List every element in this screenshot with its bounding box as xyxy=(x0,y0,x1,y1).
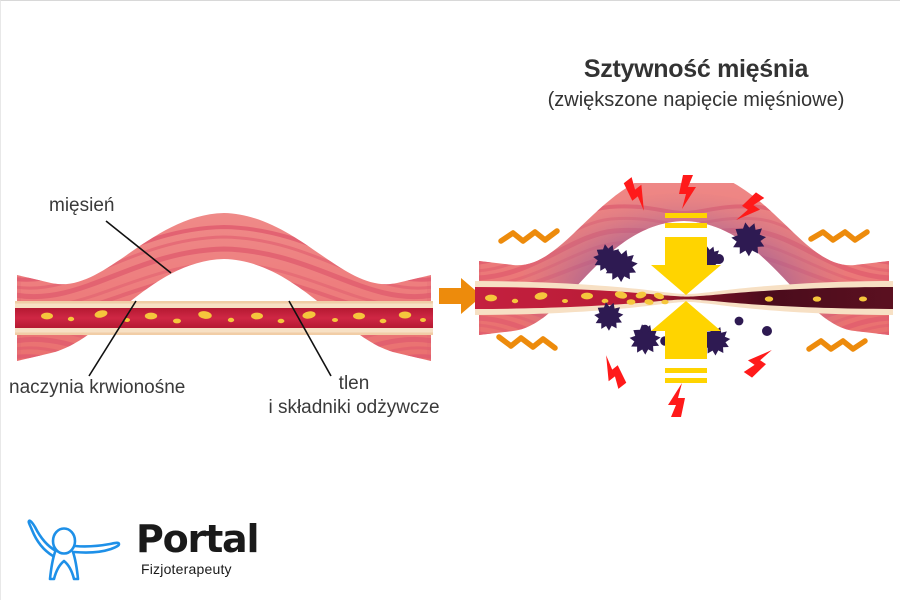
label-muscle: mięsień xyxy=(49,194,114,218)
infographic-canvas: Sztywność mięśnia (zwiększone napięcie m… xyxy=(1,1,900,600)
physio-figure-icon xyxy=(19,511,131,583)
title-block: Sztywność mięśnia (zwiększone napięcie m… xyxy=(491,55,900,112)
label-oxygen-nutrients: tlen i składniki odżywcze xyxy=(249,372,459,420)
label-blood-vessels: naczynia krwionośne xyxy=(9,376,185,400)
page-subtitle: (zwiększone napięcie mięśniowe) xyxy=(491,89,900,112)
label-oxygen-line2: i składniki odżywcze xyxy=(249,396,459,420)
stiff-muscle-diagram xyxy=(469,183,899,413)
logo[interactable]: Portal Fizjoterapeuty xyxy=(19,509,259,585)
page-title: Sztywność mięśnia xyxy=(491,55,900,84)
logo-tagline: Fizjoterapeuty xyxy=(141,561,232,577)
logo-wordmark: Portal xyxy=(136,517,258,561)
blood-vessel xyxy=(15,301,433,335)
label-oxygen-line1: tlen xyxy=(339,373,370,394)
